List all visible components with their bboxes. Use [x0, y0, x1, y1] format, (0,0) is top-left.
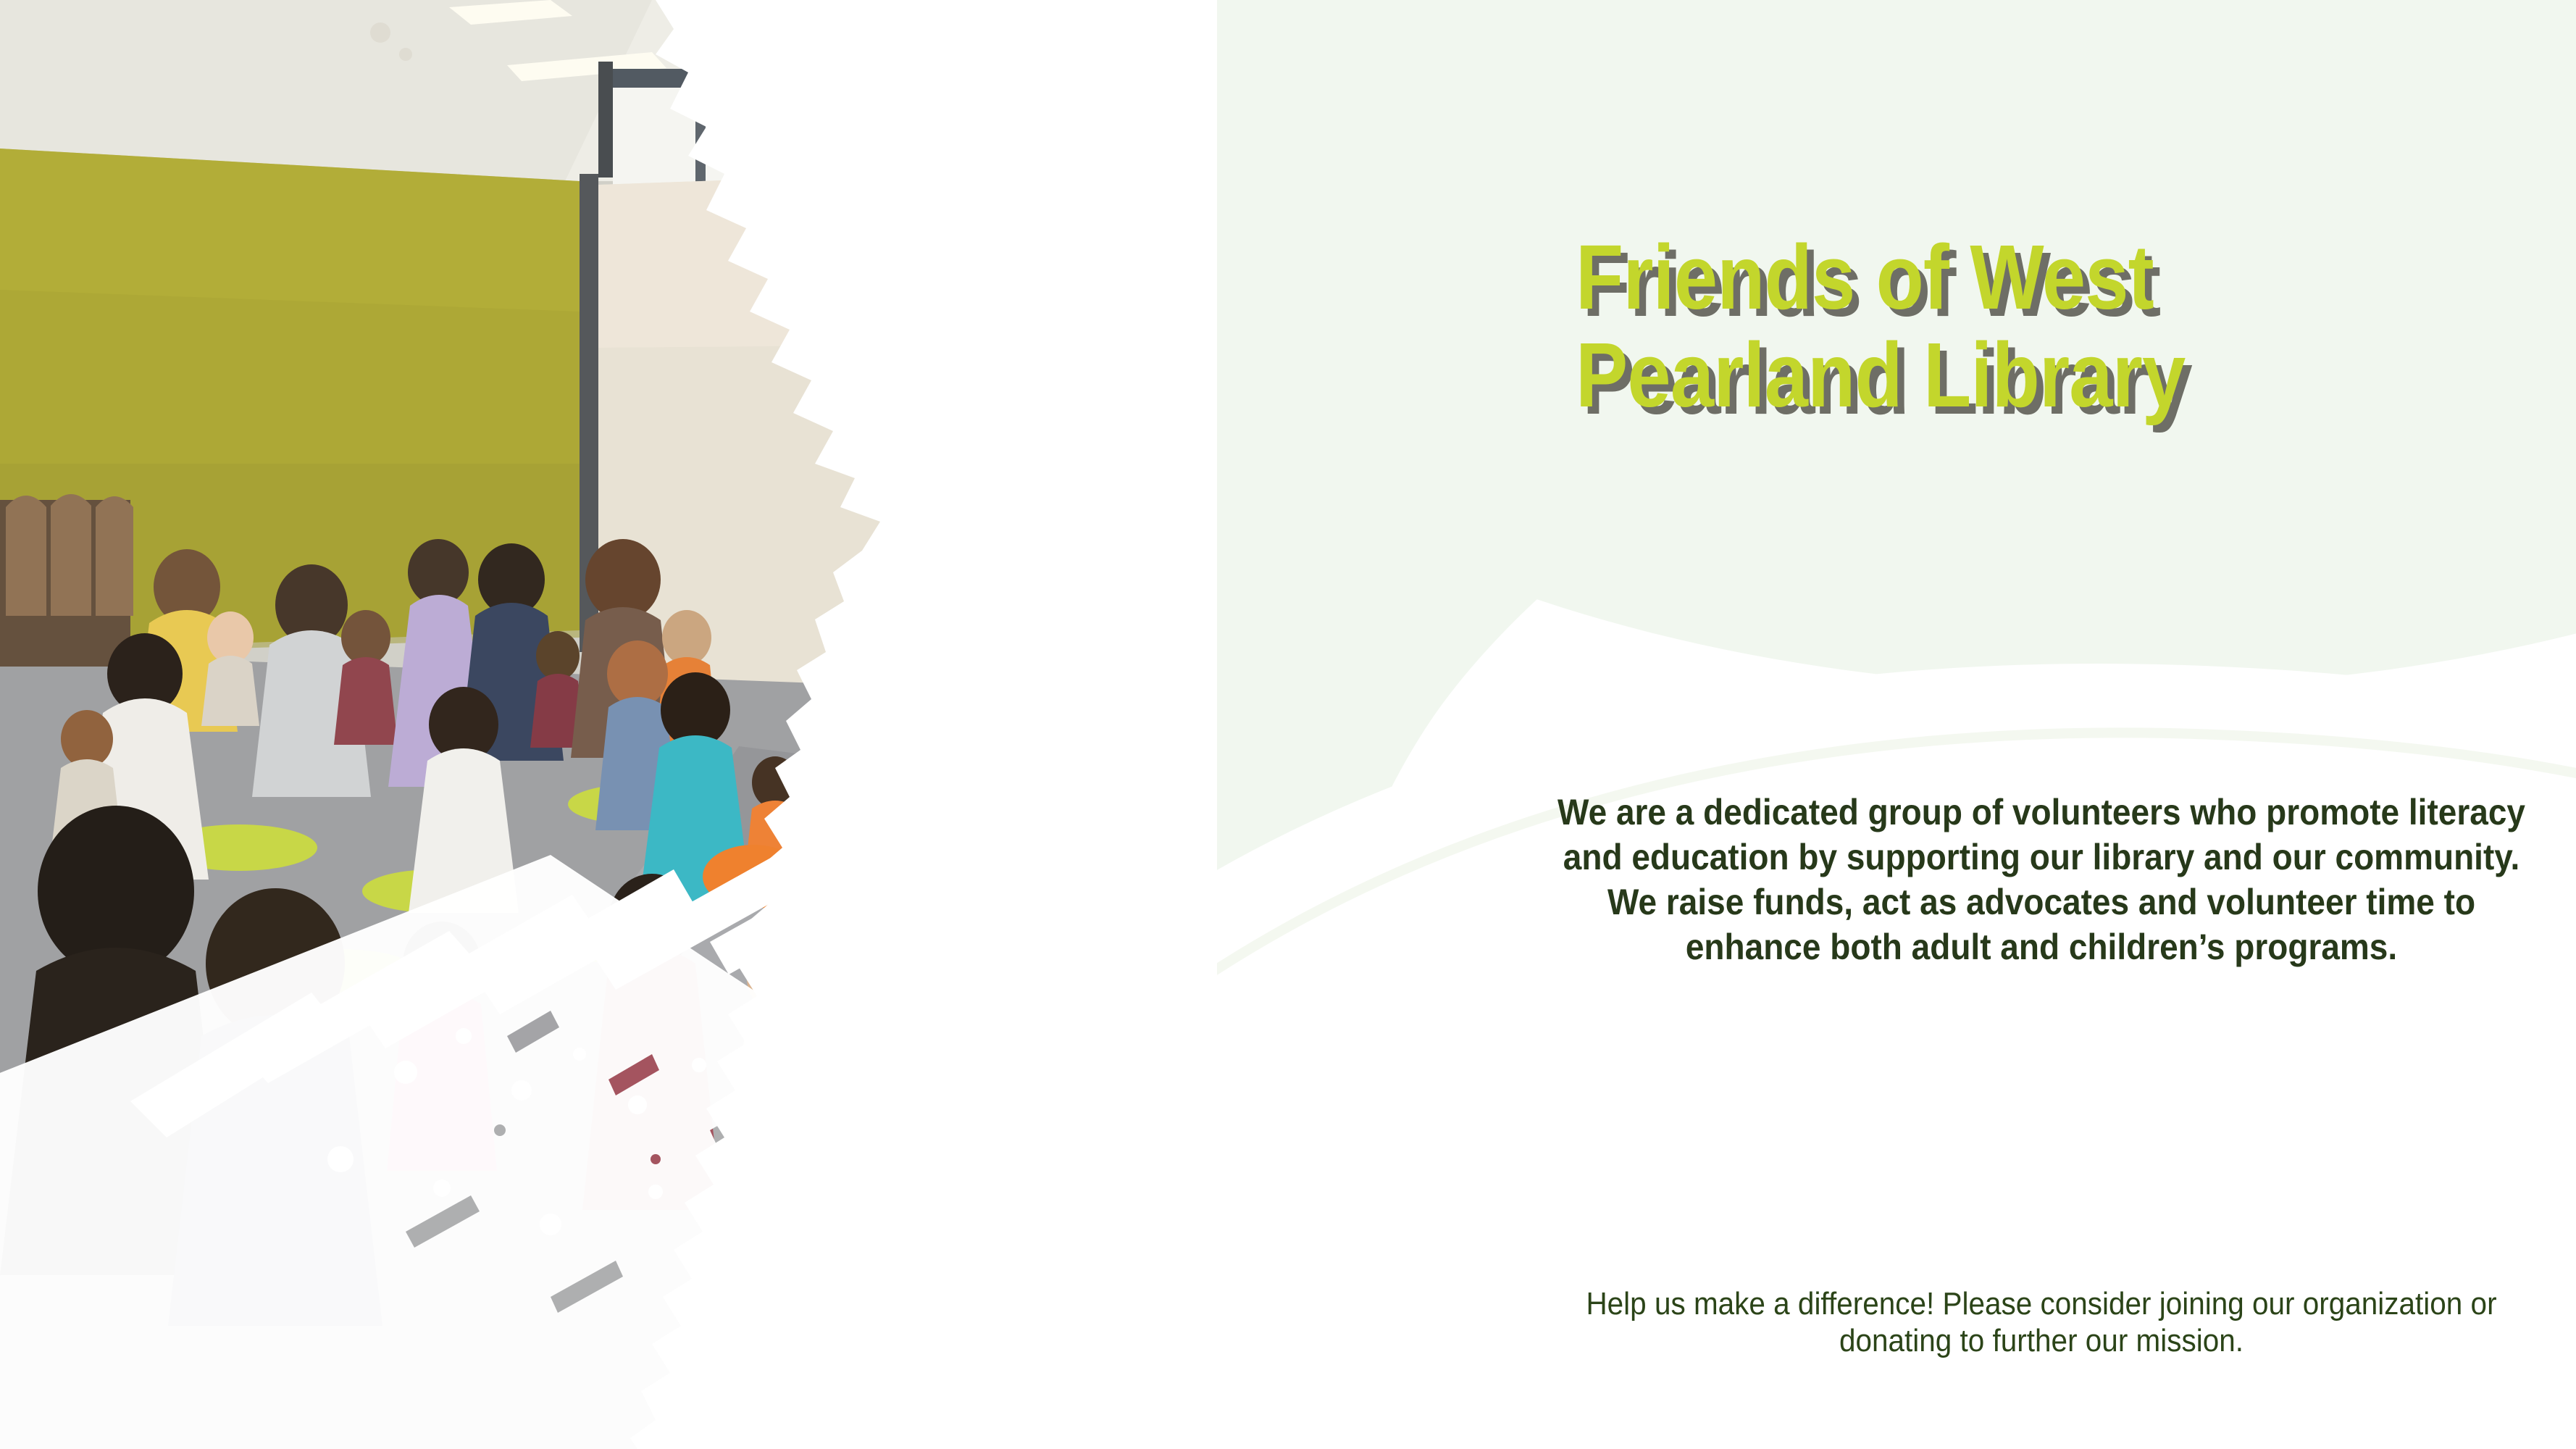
call-to-action-paragraph: Help us make a difference! Please consid… [1550, 1285, 2533, 1359]
tv-text-line1: Time For a [1092, 350, 1271, 391]
slide-canvas: Time For a Book! [0, 0, 2576, 1449]
tv-cloud-bubble [1061, 313, 1301, 475]
tv-text-line2: Book! [1133, 395, 1229, 436]
presenter-table [1021, 507, 1326, 755]
laptop [1065, 507, 1143, 580]
text-column: Friends of West Pearland Library We are … [1507, 0, 2576, 1449]
mission-paragraph: We are a dedicated group of volunteers w… [1550, 790, 2533, 969]
wall-tv-screen: Time For a Book! [1029, 290, 1333, 500]
library-storytime-photo: Time For a Book! [0, 0, 1521, 1449]
page-title: Friends of West Pearland Library [1576, 229, 2398, 425]
